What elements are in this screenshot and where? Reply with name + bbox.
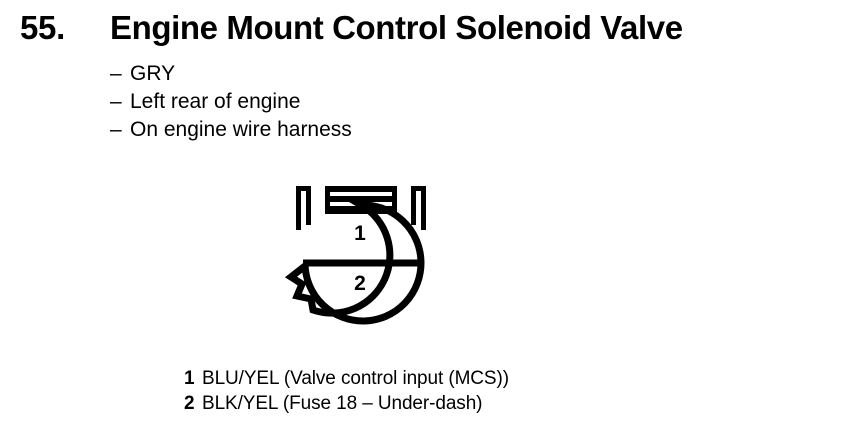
dash-bullet-icon: – <box>110 88 130 116</box>
list-item: –On engine wire harness <box>110 116 630 144</box>
pin-description: BLK/YEL (Fuse 18 – Under-dash) <box>202 393 482 414</box>
pin-legend-row: 2BLK/YEL (Fuse 18 – Under-dash) <box>184 391 804 416</box>
manual-page: 55. Engine Mount Control Solenoid Valve … <box>0 0 864 442</box>
pin-number: 1 <box>184 366 202 391</box>
left-side-tab-icon <box>296 186 311 230</box>
dash-bullet-icon: – <box>110 60 130 88</box>
list-item: –Left rear of engine <box>110 88 630 116</box>
list-item-label: On engine wire harness <box>130 118 352 141</box>
pin-description: BLU/YEL (Valve control input (MCS)) <box>202 368 509 389</box>
section-title: Engine Mount Control Solenoid Valve <box>110 8 683 48</box>
list-item-label: Left rear of engine <box>130 90 300 113</box>
detail-list: –GRY –Left rear of engine –On engine wir… <box>110 60 630 144</box>
list-item: –GRY <box>110 60 630 88</box>
right-side-tab-icon <box>411 186 426 230</box>
connector-diagram: 1 2 <box>283 178 439 328</box>
page-title: 55. Engine Mount Control Solenoid Valve <box>0 8 864 52</box>
dash-bullet-icon: – <box>110 116 130 144</box>
list-item-label: GRY <box>130 62 175 85</box>
section-number: 55. <box>20 8 65 48</box>
terminal-number-1: 1 <box>354 222 366 245</box>
terminal-number-2: 2 <box>354 272 366 295</box>
pin-number: 2 <box>184 391 202 416</box>
pin-legend: 1BLU/YEL (Valve control input (MCS)) 2BL… <box>184 366 804 416</box>
pin-legend-row: 1BLU/YEL (Valve control input (MCS)) <box>184 366 804 391</box>
